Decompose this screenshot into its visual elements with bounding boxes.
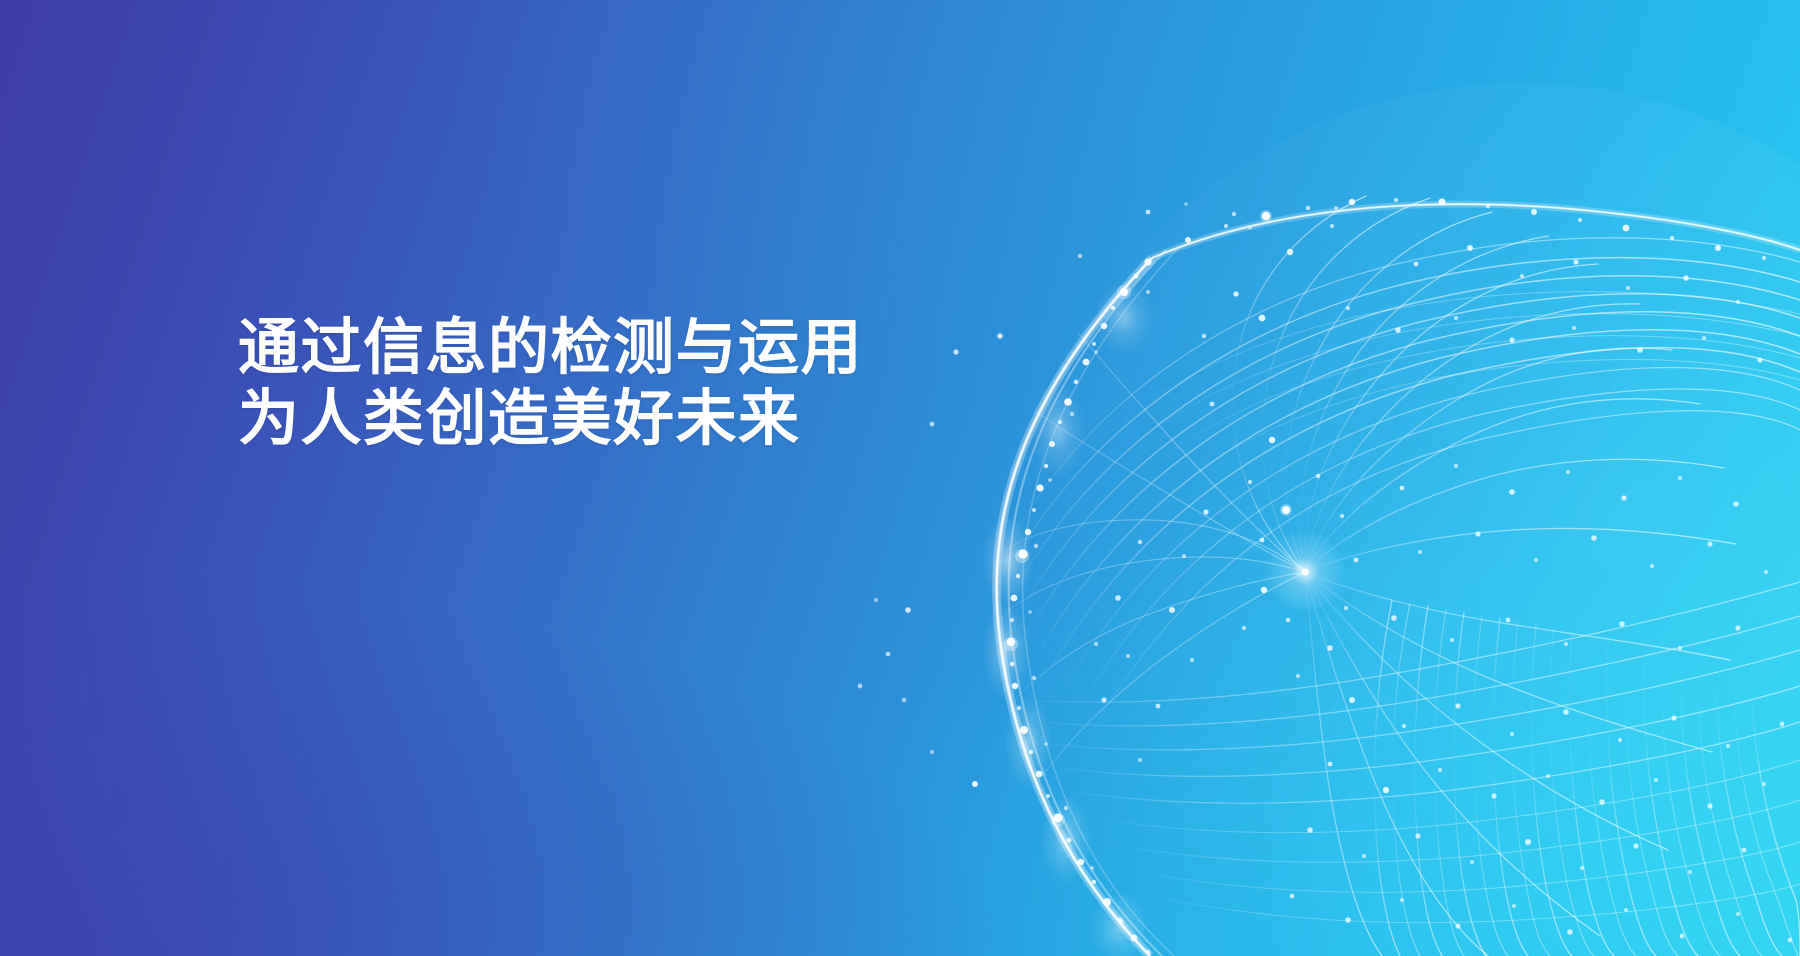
background-gradient (0, 0, 1800, 956)
headline-block: 通过信息的检测与运用 为人类创造美好未来 (238, 312, 863, 454)
headline-line-2: 为人类创造美好未来 (238, 383, 863, 454)
headline-line-1: 通过信息的检测与运用 (238, 312, 863, 383)
hero-banner: 通过信息的检测与运用 为人类创造美好未来 (0, 0, 1800, 956)
